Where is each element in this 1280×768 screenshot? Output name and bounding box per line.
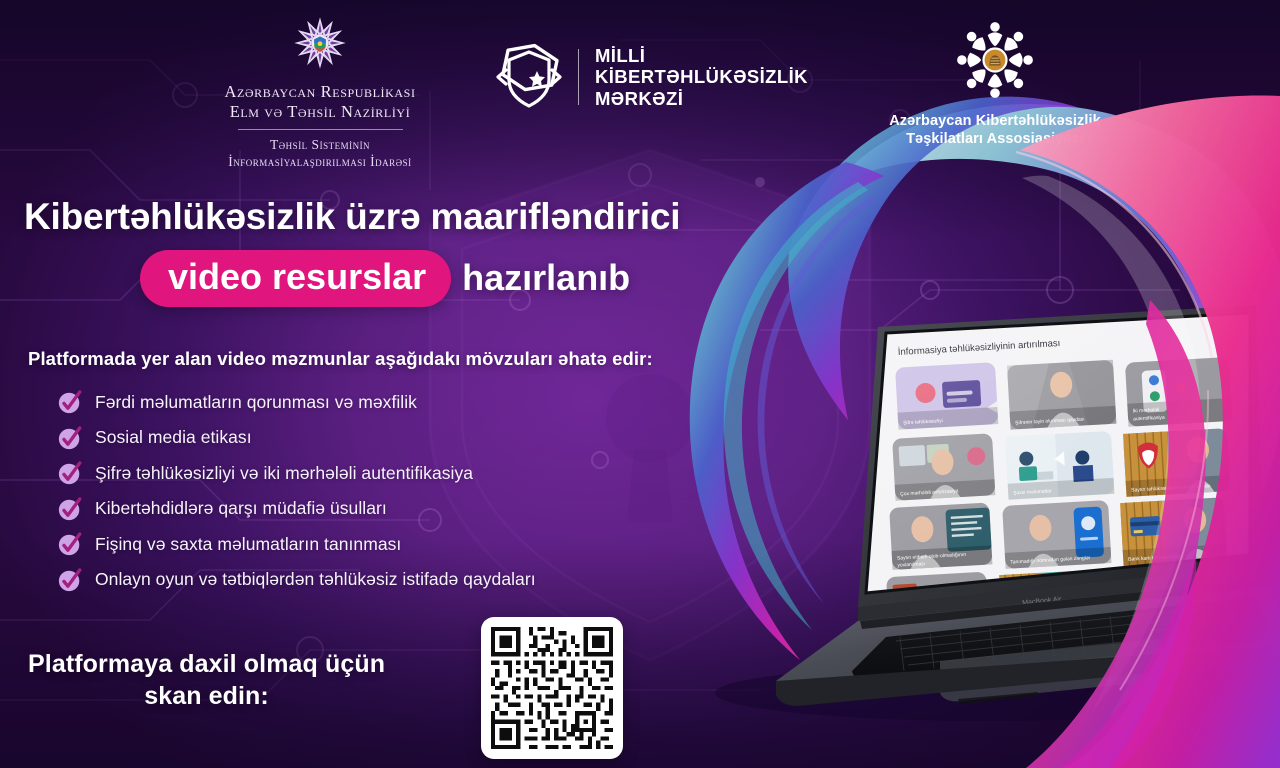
ncsc-logo-divider	[578, 49, 579, 105]
check-circle-icon	[57, 496, 83, 522]
list-item-label: Sosial media etikası	[95, 427, 252, 448]
hero-highlight-pill: video resurslar	[140, 250, 451, 307]
ncsc-line-1: Mİllİ	[595, 45, 808, 66]
hero-line-2: video resurslar hazırlanıb	[24, 250, 804, 307]
ncsc-logo: Mİllİ KİBERTƏHLÜKƏSİZLİK MƏRKƏZİ	[492, 40, 822, 114]
azerbaijan-state-emblem-icon	[291, 14, 349, 72]
check-circle-icon	[57, 567, 83, 593]
list-item: Onlayn oyun və tətbiqlərdən təhlükəsiz i…	[57, 567, 757, 593]
qr-code-icon[interactable]	[491, 627, 613, 749]
hero-line-2-tail: hazırlanıb	[462, 257, 630, 299]
association-line-1: Azərbaycan Kibertəhlükəsizlik	[845, 113, 1145, 131]
ministry-logo: Azərbaycan Respublikası Elm və Təhsil Na…	[150, 14, 490, 170]
list-item-label: Fişinq və saxta məlumatların tanınması	[95, 534, 401, 555]
list-item-label: Fərdi məlumatların qorunması və məxfilik	[95, 392, 417, 413]
association-network-people-icon	[949, 14, 1041, 106]
list-item: Şifrə təhlükəsizliyi və iki mərhələli au…	[57, 460, 757, 486]
hero-heading: Kibertəhlükəsizlik üzrə maarifləndirici …	[24, 198, 804, 307]
association-line-2: Təşkilatları Assosiasiyası	[845, 131, 1145, 149]
ncsc-wordmark: Mİllİ KİBERTƏHLÜKƏSİZLİK MƏRKƏZİ	[595, 45, 808, 108]
check-circle-icon	[57, 425, 83, 451]
cta-line-2: skan edin:	[28, 680, 385, 712]
check-circle-icon	[57, 389, 83, 415]
topics-intro: Platformada yer alan video məzmunlar aşa…	[28, 348, 653, 370]
poster-canvas: İnformasiya təhlükəsizliyinin artırılmas…	[0, 0, 1280, 768]
ncsc-shield-star-crescent-icon	[492, 40, 566, 114]
cta-line-1: Platformaya daxil olmaq üçün	[28, 648, 385, 680]
ncsc-line-3: MƏRKƏZİ	[595, 88, 808, 109]
list-item: Kibertəhdidlərə qarşı müdafiə üsulları	[57, 496, 757, 522]
ministry-line-1: Azərbaycan Respublikası	[150, 82, 490, 102]
list-item: Sosial media etikası	[57, 425, 757, 451]
list-item-label: Onlayn oyun və tətbiqlərdən təhlükəsiz i…	[95, 569, 536, 590]
topics-list: Fərdi məlumatların qorunması və məxfilik…	[57, 389, 757, 602]
list-item: Fişinq və saxta məlumatların tanınması	[57, 531, 757, 557]
hero-line-1: Kibertəhlükəsizlik üzrə maarifləndirici	[24, 198, 804, 237]
ncsc-line-2: KİBERTƏHLÜKƏSİZLİK	[595, 66, 808, 87]
check-circle-icon	[57, 460, 83, 486]
ministry-line-3: Təhsil Sisteminin	[150, 136, 490, 153]
list-item-label: Kibertəhdidlərə qarşı müdafiə üsulları	[95, 498, 387, 519]
qr-code-card[interactable]	[481, 617, 623, 759]
ministry-line-2: Elm və Təhsil Nazirliyi	[150, 102, 490, 122]
cta-text: Platformaya daxil olmaq üçün skan edin:	[28, 648, 385, 712]
association-logo: Azərbaycan Kibertəhlükəsizlik Təşkilatla…	[845, 14, 1145, 148]
check-circle-icon	[57, 531, 83, 557]
ministry-line-4: İnformasiyalaşdırılması İdarəsi	[150, 153, 490, 170]
macbook-laptop-icon: İnformasiya təhlükəsizliyinin artırılmas…	[690, 255, 1280, 735]
list-item: Fərdi məlumatların qorunması və məxfilik	[57, 389, 757, 415]
ministry-divider	[238, 129, 403, 130]
list-item-label: Şifrə təhlükəsizliyi və iki mərhələli au…	[95, 463, 473, 484]
